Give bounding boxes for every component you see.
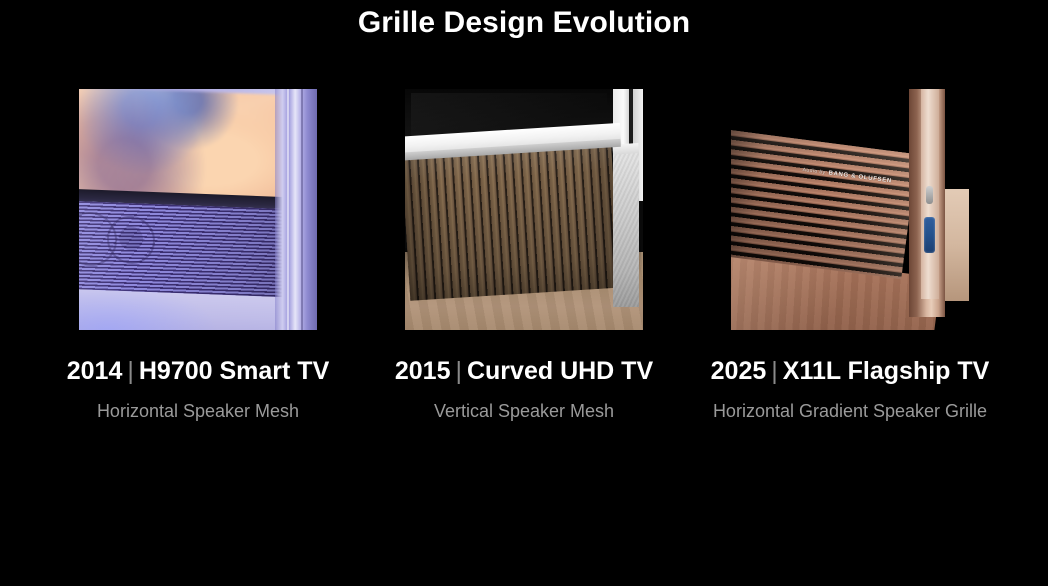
caption-separator: | [766, 357, 783, 385]
caption-description: Horizontal Speaker Mesh [40, 398, 356, 424]
slats-shading [405, 138, 620, 301]
caption-title: 2014|H9700 Smart TV [40, 356, 356, 386]
caption-separator: | [450, 357, 467, 385]
tv-side-edge [275, 89, 317, 330]
caption-year: 2014 [67, 357, 123, 385]
caption-year: 2025 [711, 357, 767, 385]
card-row: 2014|H9700 Smart TV Horizontal Speaker M… [0, 89, 1048, 424]
caption-separator: | [122, 357, 139, 385]
caption-model: X11L Flagship TV [783, 357, 990, 385]
caption-description: Vertical Speaker Mesh [366, 398, 682, 424]
card-2014-h9700[interactable]: 2014|H9700 Smart TV Horizontal Speaker M… [40, 89, 356, 424]
edge-shadow-line [301, 89, 303, 330]
caption-title: 2025|X11L Flagship TV [692, 356, 1008, 386]
blue-port-indicator [924, 217, 935, 253]
caption-description: Horizontal Gradient Speaker Grille [692, 398, 1008, 424]
curved-uhd-vertical-wood-slat-photo [405, 89, 643, 330]
card-2025-x11l[interactable]: Audio byBANG & OLUFSEN 2025|X11L Flagshi… [692, 89, 1008, 424]
ambient-glow [79, 284, 219, 330]
caption-model: Curved UHD TV [467, 357, 653, 385]
x11l-copper-gradient-grille-photo: Audio byBANG & OLUFSEN [731, 89, 969, 330]
caption-title: 2015|Curved UHD TV [366, 356, 682, 386]
concrete-end-cap [613, 149, 639, 307]
h9700-purple-horizontal-mesh-photo [79, 89, 317, 330]
card-caption: 2015|Curved UHD TV Vertical Speaker Mesh [366, 356, 682, 424]
card-2015-curved-uhd[interactable]: 2015|Curved UHD TV Vertical Speaker Mesh [366, 89, 682, 424]
page-title: Grille Design Evolution [0, 4, 1048, 42]
slide-root: Grille Design Evolution [0, 0, 1048, 586]
screen-sheen [79, 89, 291, 203]
grille-gradient-overlay [731, 129, 917, 279]
card-caption: 2014|H9700 Smart TV Horizontal Speaker M… [40, 356, 356, 424]
edge-highlight-line [287, 89, 289, 330]
caption-model: H9700 Smart TV [139, 357, 329, 385]
card-caption: 2025|X11L Flagship TV Horizontal Gradien… [692, 356, 1008, 424]
control-knob [926, 186, 933, 204]
caption-year: 2015 [395, 357, 451, 385]
